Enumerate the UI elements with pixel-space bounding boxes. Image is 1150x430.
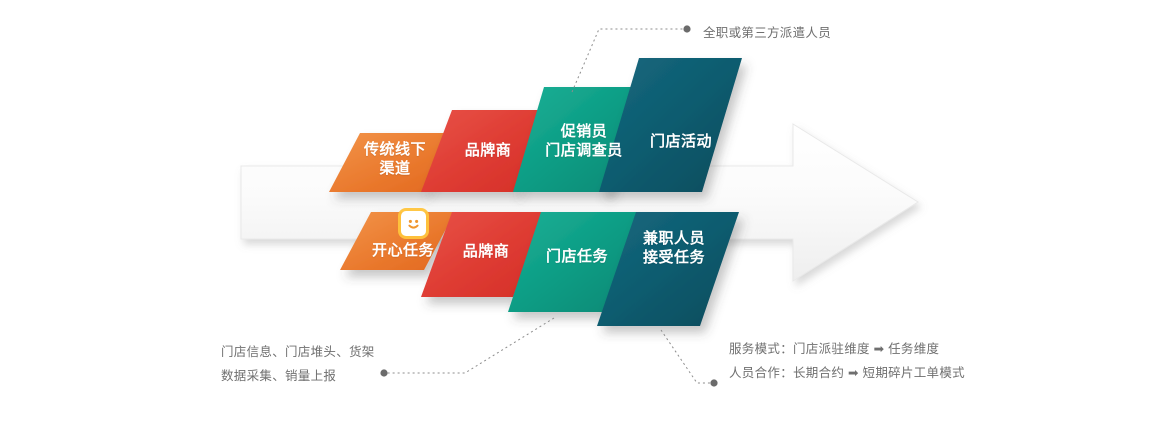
label-traditional-channel: 传统线下 渠道: [355, 140, 435, 178]
label-part-time-accept: 兼职人员 接受任务: [630, 229, 718, 267]
label-store-task: 门店任务: [534, 247, 620, 266]
annotation-data-collection: 门店信息、门店堆头、货架 数据采集、销量上报: [221, 341, 375, 389]
process-diagram: 传统线下 渠道 品牌商 促销员 门店调查员 门店活动 开心任务 品牌商 门店任务…: [0, 0, 1150, 430]
annotation-service-model: 服务模式：门店派驻维度 ➡ 任务维度 人员合作：长期合约 ➡ 短期碎片工单模式: [729, 338, 965, 386]
label-brand-owner-top: 品牌商: [449, 141, 527, 160]
annotation-staffing: 全职或第三方派遣人员: [703, 22, 831, 46]
label-promoter-surveyor: 促销员 门店调查员: [536, 122, 632, 160]
label-brand-owner-bottom: 品牌商: [447, 242, 525, 261]
label-store-activity: 门店活动: [637, 132, 725, 151]
smiley-icon: [401, 211, 426, 236]
label-happy-task: 开心任务: [361, 241, 445, 260]
